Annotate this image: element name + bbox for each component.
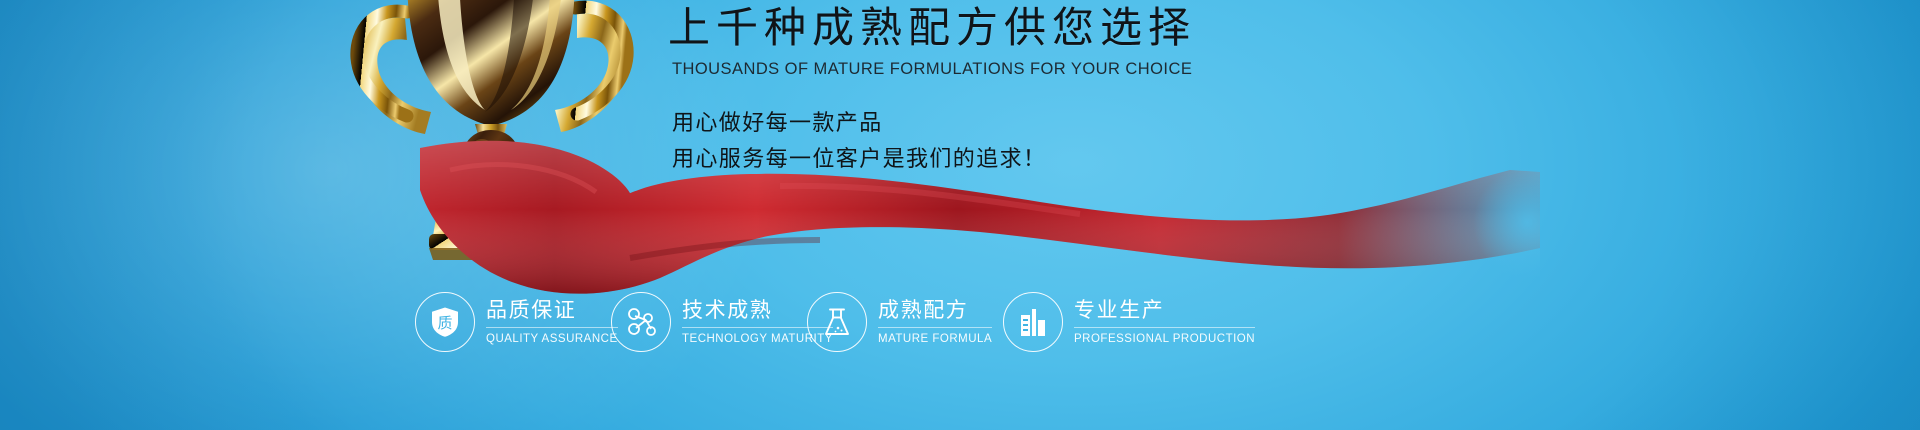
feature-title-cn: 品质保证 (486, 299, 618, 328)
feature-badge-technology-maturity[interactable]: 技术成熟 TECHNOLOGY MATURITY (611, 292, 807, 352)
feature-text: 成熟配方 MATURE FORMULA (878, 299, 992, 345)
feature-badge-mature-formula[interactable]: 成熟配方 MATURE FORMULA (807, 292, 1003, 352)
promo-banner: 上千种成熟配方供您选择 THOUSANDS OF MATURE FORMULAT… (0, 0, 1920, 430)
feature-title-en: QUALITY ASSURANCE (486, 333, 618, 345)
page-subtitle: THOUSANDS OF MATURE FORMULATIONS FOR YOU… (672, 60, 1288, 79)
feature-badge-list: 质 品质保证 QUALITY ASSURANCE (415, 282, 1225, 362)
feature-text: 品质保证 QUALITY ASSURANCE (486, 299, 618, 345)
body-line-2: 用心服务每一位客户是我们的追求！ (672, 141, 1288, 177)
molecule-icon (611, 292, 671, 352)
flask-icon (807, 292, 867, 352)
page-title: 上千种成熟配方供您选择 (668, 4, 1288, 51)
feature-text: 专业生产 PROFESSIONAL PRODUCTION (1074, 299, 1255, 345)
body-text: 用心做好每一款产品 用心服务每一位客户是我们的追求！ (672, 105, 1288, 176)
feature-title-en: MATURE FORMULA (878, 333, 992, 345)
shield-quality-icon: 质 (415, 292, 475, 352)
factory-icon (1003, 292, 1063, 352)
body-line-1: 用心做好每一款产品 (672, 105, 1288, 141)
headline-block: 上千种成熟配方供您选择 THOUSANDS OF MATURE FORMULAT… (668, 4, 1288, 176)
feature-title-en: PROFESSIONAL PRODUCTION (1074, 333, 1255, 345)
feature-title-cn: 专业生产 (1074, 299, 1255, 328)
feature-badge-quality-assurance[interactable]: 质 品质保证 QUALITY ASSURANCE (415, 292, 611, 352)
feature-title-cn: 成熟配方 (878, 299, 992, 328)
feature-badge-professional-production[interactable]: 专业生产 PROFESSIONAL PRODUCTION (1003, 292, 1199, 352)
svg-text:质: 质 (437, 314, 452, 332)
